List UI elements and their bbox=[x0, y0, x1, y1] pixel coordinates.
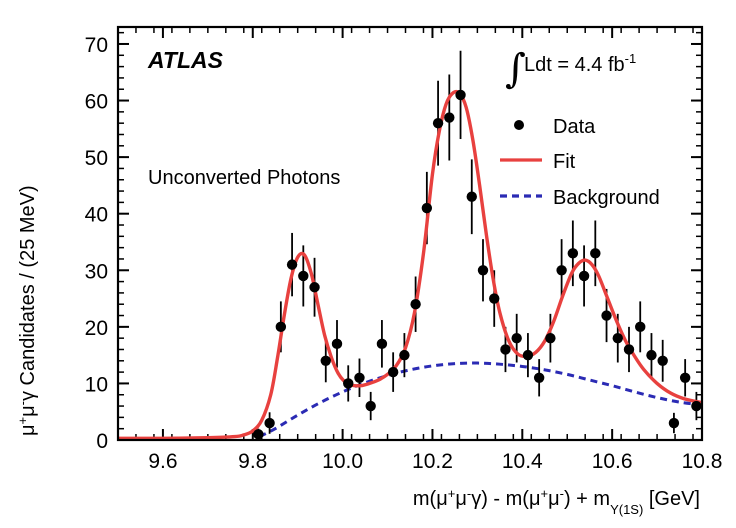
xt-p3: γ) - m(μ bbox=[471, 488, 540, 510]
data-point bbox=[478, 265, 488, 275]
data-point bbox=[298, 271, 308, 281]
data-point bbox=[388, 367, 398, 377]
legend-label-background: Background bbox=[553, 187, 660, 209]
yt-p2: μ bbox=[17, 405, 39, 417]
data-point bbox=[377, 339, 387, 349]
data-point bbox=[264, 418, 274, 428]
data-point bbox=[590, 248, 600, 258]
xt-p1: m(μ bbox=[413, 488, 448, 510]
data-point bbox=[500, 344, 510, 354]
figure-root: 9.69.810.010.210.410.610.8 0102030405060… bbox=[0, 0, 736, 528]
data-point bbox=[399, 350, 409, 360]
data-point bbox=[444, 112, 454, 122]
physics-invariant-mass-plot: 9.69.810.010.210.410.610.8 0102030405060… bbox=[0, 0, 736, 528]
x-tick-label: 10.4 bbox=[502, 450, 543, 473]
y-tick-label: 10 bbox=[85, 373, 108, 396]
data-point bbox=[635, 322, 645, 332]
data-point bbox=[422, 203, 432, 213]
data-point bbox=[511, 333, 521, 343]
yt-p1: μ bbox=[17, 424, 39, 436]
data-point bbox=[365, 401, 375, 411]
x-tick-label: 10.8 bbox=[682, 450, 723, 473]
y-tick-label: 0 bbox=[96, 430, 108, 453]
data-point bbox=[467, 192, 477, 202]
data-point bbox=[489, 293, 499, 303]
data-point bbox=[309, 282, 319, 292]
data-point bbox=[433, 118, 443, 128]
x-tick-label: 9.6 bbox=[148, 450, 177, 473]
y-tick-label: 50 bbox=[85, 147, 108, 170]
xt-s1: + bbox=[448, 486, 456, 501]
data-point bbox=[523, 350, 533, 360]
selection-label: Unconverted Photons bbox=[148, 167, 340, 189]
data-point bbox=[343, 378, 353, 388]
data-point bbox=[253, 429, 263, 439]
legend-data-marker-icon bbox=[514, 120, 524, 130]
y-axis-title: μ+μ-γ Candidates / (25 MeV) bbox=[15, 185, 39, 436]
luminosity-exponent: -1 bbox=[625, 51, 637, 66]
y-axis-title-text: μ+μ-γ Candidates / (25 MeV) bbox=[15, 185, 39, 436]
x-tick-label: 10.6 bbox=[592, 450, 633, 473]
y-tick-label: 40 bbox=[85, 204, 108, 227]
luminosity-text: Ldt = 4.4 fb-1 bbox=[524, 51, 636, 76]
data-point bbox=[691, 401, 701, 411]
data-point bbox=[455, 90, 465, 100]
y-tick-label: 70 bbox=[85, 34, 108, 57]
data-point bbox=[276, 322, 286, 332]
data-point bbox=[568, 248, 578, 258]
xt-s3: + bbox=[540, 486, 548, 501]
data-point bbox=[321, 356, 331, 366]
y-tick-label: 20 bbox=[85, 317, 108, 340]
yt-s1: + bbox=[15, 417, 30, 425]
xt-p5: ) + m bbox=[564, 488, 610, 510]
y-tick-label: 60 bbox=[85, 91, 108, 114]
xt-p2: μ bbox=[455, 488, 467, 510]
x-tick-label: 9.8 bbox=[238, 450, 267, 473]
data-point bbox=[624, 344, 634, 354]
data-point bbox=[545, 333, 555, 343]
xt-p6: [GeV] bbox=[643, 488, 700, 510]
data-point bbox=[646, 350, 656, 360]
data-point bbox=[287, 259, 297, 269]
y-tick-label: 30 bbox=[85, 260, 108, 283]
data-point bbox=[556, 265, 566, 275]
data-point bbox=[410, 299, 420, 309]
legend-label-data: Data bbox=[553, 116, 596, 138]
data-point bbox=[601, 310, 611, 320]
data-point bbox=[579, 271, 589, 281]
figure-background bbox=[0, 0, 736, 528]
legend-label-fit: Fit bbox=[553, 151, 576, 173]
x-tick-label: 10.2 bbox=[412, 450, 453, 473]
x-tick-label: 10.0 bbox=[322, 450, 363, 473]
xt-sub: Υ(1S) bbox=[610, 502, 643, 517]
data-point bbox=[332, 339, 342, 349]
data-point bbox=[534, 373, 544, 383]
xt-p4: μ bbox=[548, 488, 560, 510]
data-point bbox=[669, 418, 679, 428]
data-point bbox=[680, 373, 690, 383]
luminosity-value: Ldt = 4.4 fb bbox=[524, 54, 625, 76]
data-point bbox=[354, 373, 364, 383]
data-point bbox=[657, 356, 667, 366]
integral-icon: ∫ bbox=[505, 46, 526, 92]
experiment-label: ATLAS bbox=[147, 47, 224, 73]
yt-p3: γ Candidates / (25 MeV) bbox=[17, 185, 39, 401]
data-point bbox=[613, 333, 623, 343]
